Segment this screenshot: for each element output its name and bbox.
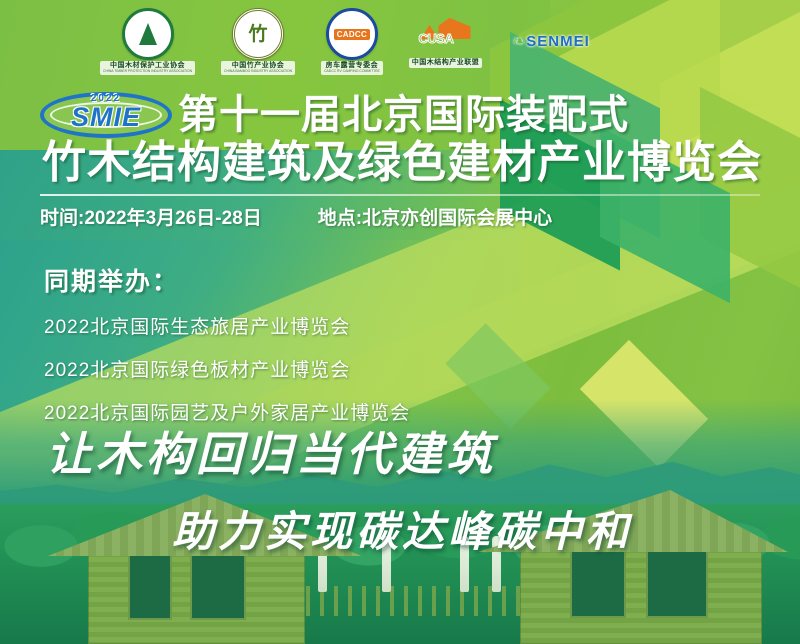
- smie-logo-text: SMIE: [40, 102, 172, 133]
- slogan-line-1: 让木构回归当代建筑: [0, 418, 800, 484]
- sponsor-logo-senmei: ❧SENMEI: [508, 26, 594, 56]
- concurrent-events-list: 2022北京国际生态旅居产业博览会 2022北京国际绿色板材产业博览会 2022…: [44, 312, 410, 425]
- smie-logo: 2022 SMIE: [40, 92, 172, 138]
- event-meta: 时间:2022年3月26日-28日 地点:北京亦创国际会展中心: [40, 203, 780, 230]
- concurrent-events-heading: 同期举办：: [44, 262, 410, 298]
- title-line-2: 竹木结构建筑及绿色建材产业博览会: [0, 140, 800, 187]
- cusa-house-icon: CUSA: [417, 15, 475, 57]
- sponsor-logo-bamboo: 竹 中国竹产业协会 CHINA BAMBOO INDUSTRY ASSOCIAT…: [221, 8, 295, 75]
- sponsor-logo-row: 中国木材保护工业协会 CHINA TIMBER PROTECTION INDUS…: [100, 8, 594, 75]
- slogan-block: 让木构回归当代建筑 助力实现碳达峰碳中和: [0, 418, 800, 559]
- slogan-line-2: 助力实现碳达峰碳中和: [0, 498, 800, 559]
- title-divider: [40, 194, 760, 196]
- list-item: 2022北京国际绿色板材产业博览会: [44, 355, 410, 382]
- sponsor-logo-caption: 中国木结构产业联盟: [409, 58, 483, 68]
- senmei-leaf-icon: ❧SENMEI: [508, 26, 594, 56]
- concurrent-events: 同期举办： 2022北京国际生态旅居产业博览会 2022北京国际绿色板材产业博览…: [44, 262, 410, 425]
- event-date: 时间:2022年3月26日-28日: [40, 203, 262, 230]
- event-venue: 地点:北京亦创国际会展中心: [318, 203, 552, 230]
- sponsor-logo-cadcc: CADCC 房车露营专委会 CADCC RV CAMPING COMMITTEE: [321, 8, 383, 75]
- tree-in-circle-icon: [122, 8, 174, 60]
- sponsor-logo-caption: 房车露营专委会 CADCC RV CAMPING COMMITTEE: [321, 61, 383, 75]
- sponsor-logo-caption: 中国竹产业协会 CHINA BAMBOO INDUSTRY ASSOCIATIO…: [221, 61, 295, 75]
- poster-content: 中国木材保护工业协会 CHINA TIMBER PROTECTION INDUS…: [0, 0, 800, 644]
- list-item: 2022北京国际生态旅居产业博览会: [44, 312, 410, 339]
- sponsor-logo-china-timber: 中国木材保护工业协会 CHINA TIMBER PROTECTION INDUS…: [100, 8, 195, 75]
- leaf-icon: ❧: [513, 33, 527, 50]
- sponsor-logo-caption: 中国木材保护工业协会 CHINA TIMBER PROTECTION INDUS…: [100, 61, 195, 75]
- bamboo-in-circle-icon: 竹: [232, 8, 284, 60]
- cadcc-emblem-icon: CADCC: [326, 8, 378, 60]
- exhibition-poster: 中国木材保护工业协会 CHINA TIMBER PROTECTION INDUS…: [0, 0, 800, 644]
- title-block: 2022 SMIE 第十一届北京国际装配式 竹木结构建筑及绿色建材产业博览会: [0, 92, 800, 187]
- sponsor-logo-cusa: CUSA 中国木结构产业联盟: [409, 15, 483, 68]
- title-line-1: 第十一届北京国际装配式: [178, 94, 629, 136]
